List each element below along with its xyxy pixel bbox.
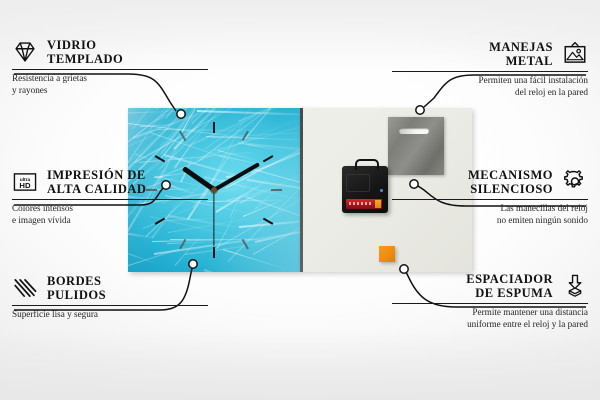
feature-header: ultra HD IMPRESIÓN DEALTA CALIDAD — [12, 168, 208, 196]
background-vignette-bottom — [0, 330, 600, 400]
battery-label — [349, 202, 371, 205]
hour-marker — [179, 131, 186, 142]
feature-title: VIDRIOTEMPLADO — [47, 38, 123, 66]
metal-hanger-plate — [388, 117, 444, 175]
feature-header: ESPACIADORDE ESPUMA — [392, 272, 588, 300]
feature-subtitle: Resistencia a grietasy rayones — [12, 73, 208, 97]
battery-terminal — [375, 200, 381, 208]
hour-marker — [213, 122, 215, 133]
feature-divider — [12, 199, 208, 200]
picture-hanger-icon — [562, 41, 588, 67]
foam-spacer — [379, 246, 395, 262]
feature-mecanismo-silencioso: MECANISMOSILENCIOSO Las manecillas del r… — [392, 168, 588, 227]
clock-mechanism — [342, 166, 388, 213]
hour-marker — [213, 247, 215, 258]
product-infographic: VIDRIOTEMPLADO Resistencia a grietasy ra… — [0, 0, 600, 400]
feature-subtitle: Permiten una fácil instalacióndel reloj … — [392, 75, 588, 99]
feature-title: IMPRESIÓN DEALTA CALIDAD — [47, 168, 146, 196]
feature-impresion-alta-calidad: ultra HD IMPRESIÓN DEALTA CALIDAD Colore… — [12, 168, 208, 227]
foam-spacer-icon — [562, 273, 588, 299]
hour-marker — [242, 239, 249, 250]
feature-subtitle: Superficie lisa y segura — [12, 309, 208, 321]
feature-divider — [392, 199, 588, 200]
feature-title: MANEJASMETAL — [489, 40, 553, 68]
feature-header: BORDESPULIDOS — [12, 274, 208, 302]
hour-marker — [263, 155, 274, 162]
feature-divider — [392, 303, 588, 304]
feature-subtitle: Permite mantener una distanciauniforme e… — [392, 307, 588, 331]
feature-subtitle: Colores intensose imagen vívida — [12, 203, 208, 227]
feature-vidrio-templado: VIDRIOTEMPLADO Resistencia a grietasy ra… — [12, 38, 208, 97]
hanger-keyhole-slot — [399, 128, 429, 134]
hour-marker — [271, 189, 282, 191]
feature-title: ESPACIADORDE ESPUMA — [466, 272, 553, 300]
glass-edge — [300, 108, 303, 272]
hand-center-cap — [211, 187, 217, 193]
mechanism-panel-seam — [346, 174, 370, 192]
polished-edges-icon — [12, 275, 38, 301]
feature-divider — [12, 69, 208, 70]
svg-text:HD: HD — [19, 181, 31, 190]
feature-espaciador-espuma: ESPACIADORDE ESPUMA Permite mantener una… — [392, 272, 588, 331]
feature-header: MANEJASMETAL — [392, 40, 588, 68]
feature-bordes-pulidos: BORDESPULIDOS Superficie lisa y segura — [12, 274, 208, 321]
gear-icon — [562, 169, 588, 195]
feature-divider — [12, 305, 208, 306]
feature-header: MECANISMOSILENCIOSO — [392, 168, 588, 196]
second-hand — [213, 190, 214, 246]
mechanism-hanging-loop — [355, 159, 379, 170]
hour-marker — [263, 218, 274, 225]
diamond-icon — [12, 39, 38, 65]
feature-manejas-metal: MANEJASMETAL Permiten una fácil instalac… — [392, 40, 588, 99]
feature-subtitle: Las manecillas del relojno emiten ningún… — [392, 203, 588, 227]
minute-hand — [213, 162, 260, 191]
feature-title: MECANISMOSILENCIOSO — [468, 168, 553, 196]
ultra-hd-icon: ultra HD — [12, 169, 38, 195]
feature-header: VIDRIOTEMPLADO — [12, 38, 208, 66]
battery — [346, 199, 382, 209]
feature-title: BORDESPULIDOS — [47, 274, 106, 302]
feature-divider — [392, 71, 588, 72]
hour-marker — [242, 131, 249, 142]
mechanism-indicator-dot — [380, 189, 383, 192]
hour-marker — [179, 239, 186, 250]
hour-marker — [155, 155, 166, 162]
